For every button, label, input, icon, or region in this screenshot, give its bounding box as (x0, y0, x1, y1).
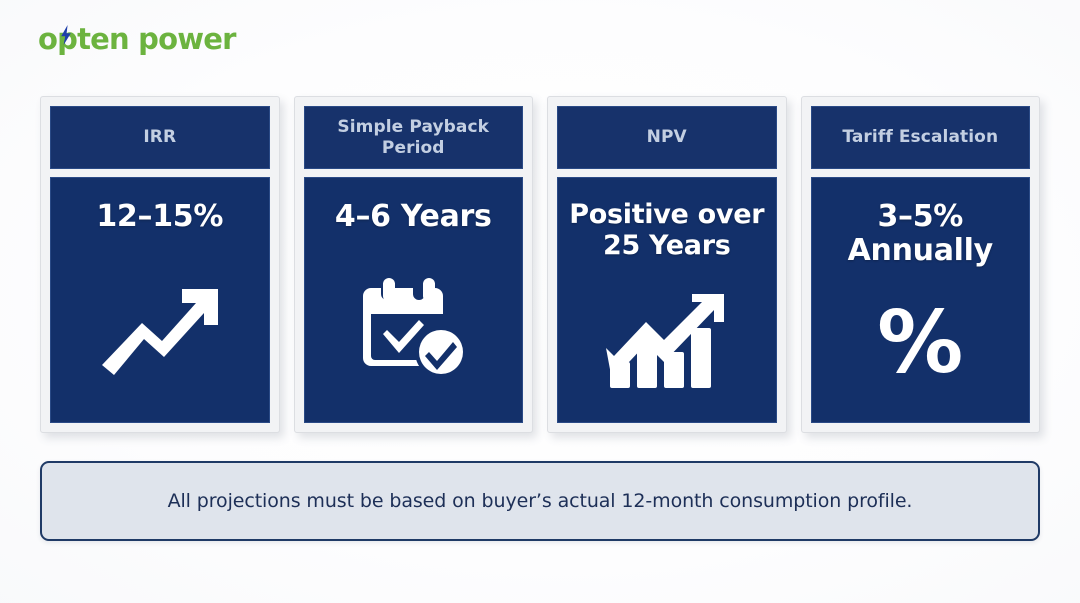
metric-card-title: NPV (647, 127, 687, 148)
metric-card-body: 3–5% Annually % (811, 177, 1031, 423)
metric-card-body: Positive over 25 Years (557, 177, 777, 423)
metric-cards-row: IRR 12–15% Simple Payback Period 4–6 Yea… (40, 96, 1040, 433)
metric-card-title: Simple Payback Period (311, 117, 517, 158)
disclaimer-banner: All projections must be based on buyer’s… (40, 461, 1040, 541)
metric-card-value: 4–6 Years (329, 200, 498, 234)
trending-up-arrow-icon (51, 234, 269, 422)
brand-logo: opten power (38, 21, 236, 57)
metric-card-npv[interactable]: NPV Positive over 25 Years (547, 96, 787, 433)
percent-glyph: % (877, 300, 963, 386)
metric-card-header: IRR (50, 106, 270, 169)
metric-card-value: 3–5% Annually (812, 200, 1030, 268)
metric-card-header: NPV (557, 106, 777, 169)
metric-card-title: Tariff Escalation (842, 127, 998, 148)
metric-card-value: Positive over 25 Years (558, 200, 776, 262)
metric-card-header: Tariff Escalation (811, 106, 1031, 169)
metric-card-body: 12–15% (50, 177, 270, 423)
metric-card-irr[interactable]: IRR 12–15% (40, 96, 280, 433)
disclaimer-text: All projections must be based on buyer’s… (168, 490, 913, 512)
metric-card-title: IRR (143, 127, 176, 148)
calendar-check-icon (305, 234, 523, 422)
metric-card-simple-payback-period[interactable]: Simple Payback Period 4–6 Years (294, 96, 534, 433)
bar-chart-growth-icon (558, 262, 776, 422)
slide-canvas: opten power IRR 12–15% Simple Payb (0, 0, 1080, 603)
metric-card-tariff-escalation[interactable]: Tariff Escalation 3–5% Annually % (801, 96, 1041, 433)
metric-card-body: 4–6 Years (304, 177, 524, 423)
percent-icon: % (812, 268, 1030, 422)
metric-card-header: Simple Payback Period (304, 106, 524, 169)
brand-logo-text: opten power (38, 25, 236, 54)
metric-card-value: 12–15% (90, 200, 229, 234)
